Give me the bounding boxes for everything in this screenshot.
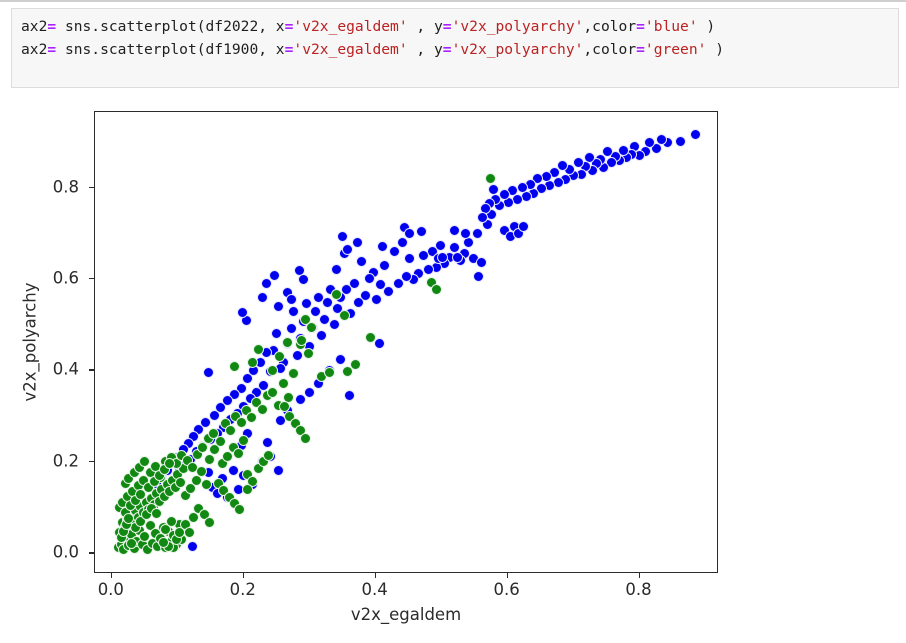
code-token-str: 'v2x_polyarchy' xyxy=(452,18,584,35)
scatter-point xyxy=(316,330,327,341)
scatter-point xyxy=(331,289,342,300)
notebook-top-divider xyxy=(0,0,906,2)
scatter-point xyxy=(278,378,289,389)
scatter-point xyxy=(151,508,162,519)
code-token-op: = xyxy=(47,41,56,58)
scatter-point xyxy=(488,184,499,195)
scatter-point xyxy=(397,237,408,248)
scatter-point xyxy=(477,212,488,223)
scatter-point xyxy=(393,278,404,289)
code-line-2: ax2= sns.scatterplot(df1900, x='v2x_egal… xyxy=(21,38,894,61)
scatter-point xyxy=(296,335,307,346)
y-tick-mark xyxy=(89,461,94,462)
scatter-point xyxy=(485,173,496,184)
code-token-op: = xyxy=(443,41,452,58)
code-token-op: = xyxy=(443,18,452,35)
code-token-name: ax2 xyxy=(21,41,47,58)
y-tick-mark xyxy=(89,187,94,188)
scatter-point xyxy=(431,284,442,295)
scatter-point xyxy=(675,136,686,147)
scatter-point xyxy=(344,390,355,401)
scatter-point xyxy=(257,404,268,415)
scatter-point xyxy=(690,129,701,140)
scatter-point xyxy=(298,274,309,285)
scatter-point xyxy=(288,368,299,379)
scatter-point xyxy=(286,294,297,305)
y-tick-label: 0.4 xyxy=(53,360,79,379)
code-cell-source[interactable]: ax2= sns.scatterplot(df2022, x='v2x_egal… xyxy=(21,15,894,61)
scatter-point xyxy=(418,250,429,261)
code-token-str: 'v2x_egaldem' xyxy=(293,18,407,35)
x-axis-label-text: v2x_egaldem xyxy=(351,605,461,624)
x-tick-mark xyxy=(507,573,508,578)
scatter-point xyxy=(324,367,335,378)
scatter-point xyxy=(350,359,361,370)
scatter-point xyxy=(437,252,448,263)
scatter-point xyxy=(342,244,353,255)
x-tick-label: 0.4 xyxy=(362,580,388,599)
scatter-point xyxy=(187,541,198,552)
scatter-point xyxy=(175,477,186,488)
code-token-name: ) xyxy=(698,18,716,35)
x-tick-label: 0.0 xyxy=(98,580,124,599)
scatter-point xyxy=(282,337,293,348)
scatter-plot-axes xyxy=(94,111,718,573)
scatter-point xyxy=(203,367,214,378)
scatter-point xyxy=(383,286,394,297)
scatter-point xyxy=(365,332,376,343)
scatter-point xyxy=(174,527,185,538)
code-token-name: , y xyxy=(408,18,443,35)
scatter-point xyxy=(228,465,239,476)
scatter-point xyxy=(452,252,463,263)
code-token-str: 'v2x_polyarchy' xyxy=(452,41,584,58)
scatter-point xyxy=(215,436,226,447)
scatter-point xyxy=(184,527,195,538)
scatter-point xyxy=(379,260,390,271)
x-tick-mark xyxy=(111,573,112,578)
scatter-point xyxy=(261,278,272,289)
scatter-point xyxy=(229,361,240,372)
scatter-point xyxy=(288,306,299,317)
scatter-point xyxy=(374,338,385,349)
scatter-point xyxy=(404,253,415,264)
code-token-op: = xyxy=(636,41,645,58)
scatter-point xyxy=(517,182,528,193)
x-tick-mark xyxy=(375,573,376,578)
scatter-point xyxy=(331,264,342,275)
scatter-point xyxy=(273,465,284,476)
scatter-point xyxy=(416,226,427,237)
code-token-name: ax2 xyxy=(21,18,47,35)
scatter-point xyxy=(377,241,388,252)
x-tick-mark xyxy=(639,573,640,578)
code-token-str: 'v2x_egaldem' xyxy=(293,41,407,58)
scatter-point xyxy=(126,538,137,549)
code-token-str: 'blue' xyxy=(645,18,698,35)
y-tick-label: 0.0 xyxy=(53,543,79,562)
scatter-point xyxy=(234,504,245,515)
scatter-point xyxy=(356,256,367,267)
scatter-point xyxy=(339,310,350,321)
scatter-point xyxy=(352,237,363,248)
code-token-name: sns.scatterplot(df1900, x xyxy=(56,41,284,58)
matplotlib-figure: 0.00.20.40.60.8 0.00.20.40.60.8 v2x_egal… xyxy=(0,96,906,643)
x-tick-label: 0.6 xyxy=(493,580,519,599)
scatter-point xyxy=(204,517,215,528)
code-token-name: , y xyxy=(408,41,443,58)
scatter-point xyxy=(300,433,311,444)
code-token-name: ,color xyxy=(583,18,636,35)
x-tick-label: 0.8 xyxy=(625,580,651,599)
scatter-point xyxy=(518,221,529,232)
code-token-name: ) xyxy=(706,41,724,58)
scatter-point xyxy=(460,228,471,239)
scatter-point xyxy=(257,292,268,303)
y-tick-mark xyxy=(89,552,94,553)
code-line-1: ax2= sns.scatterplot(df2022, x='v2x_egal… xyxy=(21,15,894,38)
scatter-point xyxy=(337,231,348,242)
scatter-point xyxy=(353,297,364,308)
x-axis-label: v2x_egaldem xyxy=(0,605,906,624)
scatter-point xyxy=(292,350,303,361)
scatter-point xyxy=(404,228,415,239)
scatter-point xyxy=(246,412,257,423)
scatter-point xyxy=(304,387,315,398)
notebook-output-page: ax2= sns.scatterplot(df2022, x='v2x_egal… xyxy=(0,0,906,643)
scatter-point xyxy=(238,435,249,446)
scatter-point xyxy=(303,348,314,359)
scatter-point xyxy=(364,273,375,284)
x-tick-label: 0.2 xyxy=(230,580,256,599)
scatter-point xyxy=(310,306,321,317)
code-token-name: ,color xyxy=(583,41,636,58)
scatter-point xyxy=(274,351,285,362)
scatter-point xyxy=(335,354,346,365)
code-token-op: = xyxy=(636,18,645,35)
code-token-str: 'green' xyxy=(645,41,707,58)
scatter-point xyxy=(139,456,150,467)
y-tick-label: 0.6 xyxy=(53,269,79,288)
y-tick-mark xyxy=(89,278,94,279)
scatter-point xyxy=(209,410,220,421)
scatter-point xyxy=(306,322,317,333)
code-token-name: sns.scatterplot(df2022, x xyxy=(56,18,284,35)
y-tick-label: 0.2 xyxy=(53,451,79,470)
scatter-point xyxy=(329,319,340,330)
scatter-point xyxy=(225,425,236,436)
scatter-point xyxy=(473,271,484,282)
scatter-point xyxy=(236,417,247,428)
scatter-point xyxy=(472,228,483,239)
scatter-point xyxy=(423,264,434,275)
scatter-point xyxy=(371,294,382,305)
x-tick-mark xyxy=(243,573,244,578)
scatter-point xyxy=(267,365,278,376)
scatter-point xyxy=(253,344,264,355)
scatter-point xyxy=(233,448,244,459)
scatter-point xyxy=(319,314,330,325)
scatter-point xyxy=(389,246,400,257)
scatter-point xyxy=(273,301,284,312)
y-axis-label: v2x_polyarchy xyxy=(21,282,40,401)
code-token-op: = xyxy=(47,18,56,35)
scatter-point xyxy=(267,387,278,398)
scatter-point xyxy=(158,537,169,548)
scatter-point xyxy=(271,328,282,339)
scatter-point xyxy=(476,257,487,268)
scatter-point xyxy=(204,454,215,465)
scatter-point xyxy=(286,323,297,334)
y-tick-label: 0.8 xyxy=(53,177,79,196)
scatter-point xyxy=(449,225,460,236)
scatter-point xyxy=(242,484,253,495)
y-tick-mark xyxy=(89,369,94,370)
scatter-point xyxy=(262,437,273,448)
code-cell[interactable]: ax2= sns.scatterplot(df2022, x='v2x_egal… xyxy=(11,8,899,88)
